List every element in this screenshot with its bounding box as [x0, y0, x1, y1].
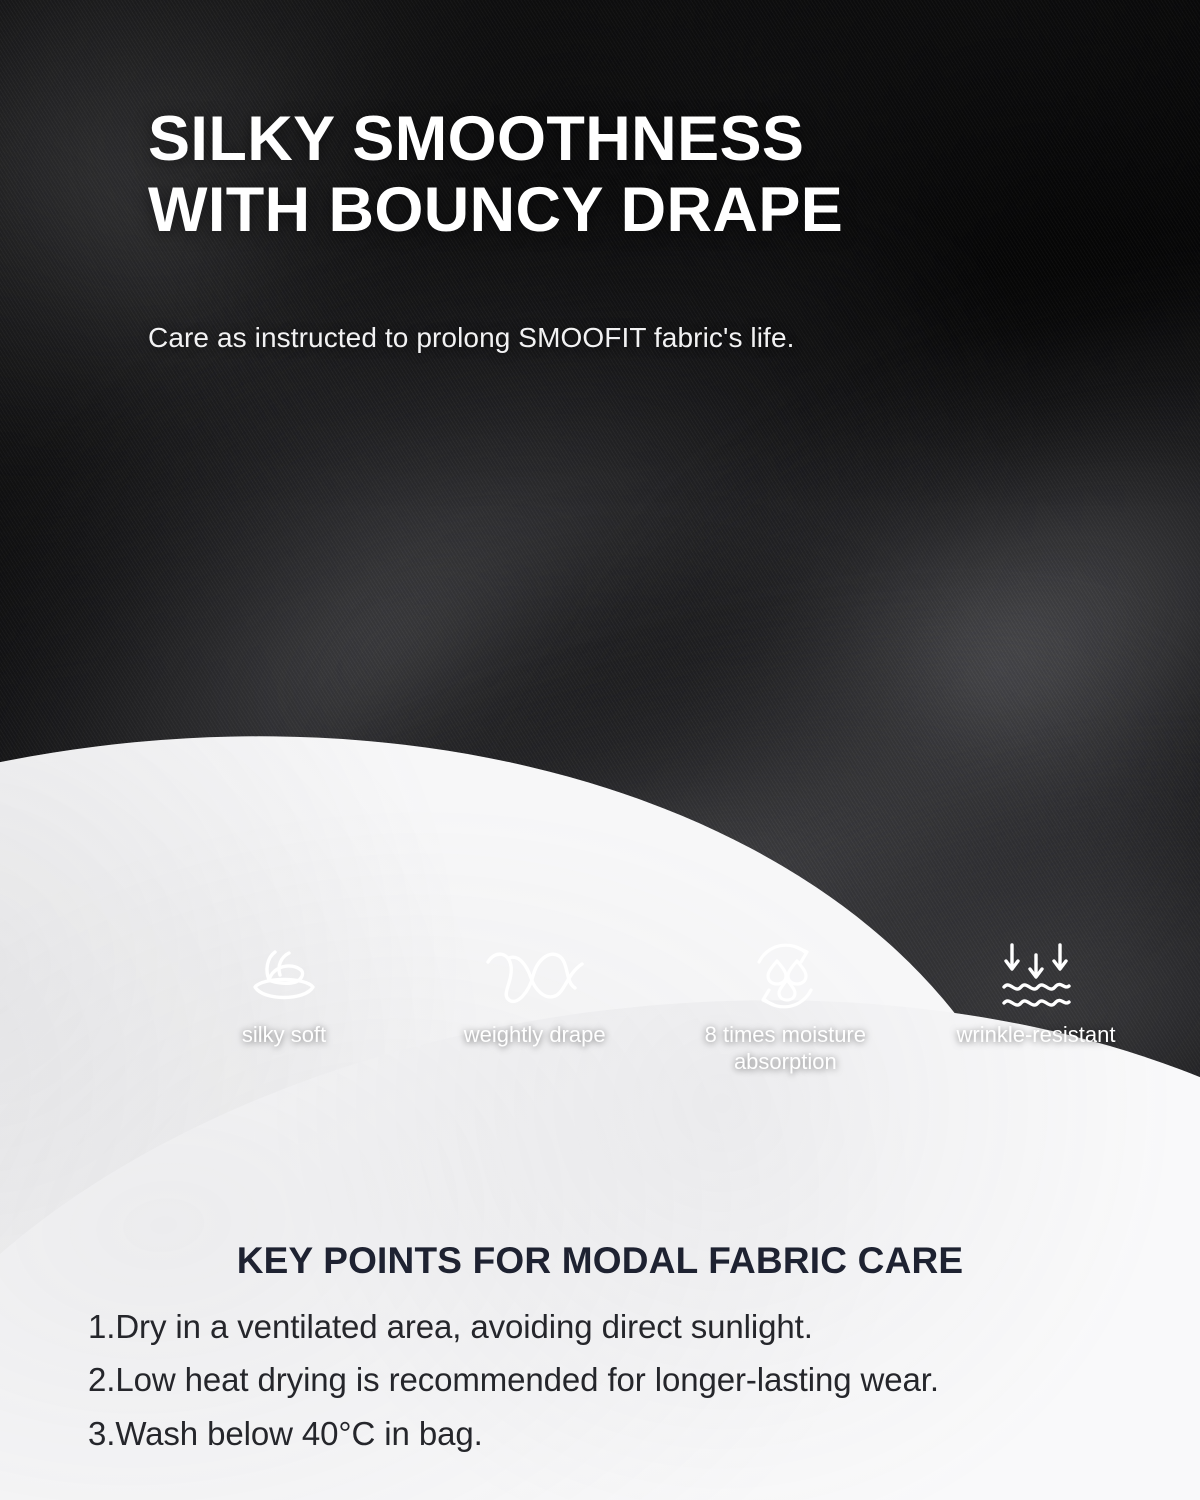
feature-row: silky soft weightly drape: [160, 938, 1160, 1076]
promo-page: SILKY SMOOTHNESS WITH BOUNCY DRAPE Care …: [0, 0, 1200, 1500]
feature-label: weightly drape: [464, 1022, 606, 1049]
feature-label: 8 times moisture absorption: [661, 1022, 909, 1076]
care-instructions-list: 1.Dry in a ventilated area, avoiding dir…: [88, 1300, 1178, 1460]
page-title: SILKY SMOOTHNESS WITH BOUNCY DRAPE: [148, 104, 1108, 245]
page-subtitle: Care as instructed to prolong SMOOFIT fa…: [148, 322, 1108, 354]
feature-item-wrinkle-resistant: wrinkle-resistant: [912, 938, 1160, 1049]
weightly-drape-icon: [483, 938, 587, 1014]
care-list-item: 1.Dry in a ventilated area, avoiding dir…: [88, 1300, 1178, 1353]
feature-item-weightly-drape: weightly drape: [411, 938, 659, 1049]
care-section-title: KEY POINTS FOR MODAL FABRIC CARE: [0, 1240, 1200, 1282]
care-list-item: 3.Wash below 40°C in bag.: [88, 1407, 1178, 1460]
feature-item-silky-soft: silky soft: [160, 938, 408, 1049]
moisture-absorption-icon: [746, 938, 824, 1014]
silky-soft-icon: [247, 938, 321, 1014]
feature-label: silky soft: [242, 1022, 326, 1049]
wrinkle-resistant-icon: [998, 938, 1074, 1014]
care-list-item: 2.Low heat drying is recommended for lon…: [88, 1353, 1178, 1406]
feature-item-moisture-absorption: 8 times moisture absorption: [661, 938, 909, 1076]
feature-label: wrinkle-resistant: [957, 1022, 1116, 1049]
